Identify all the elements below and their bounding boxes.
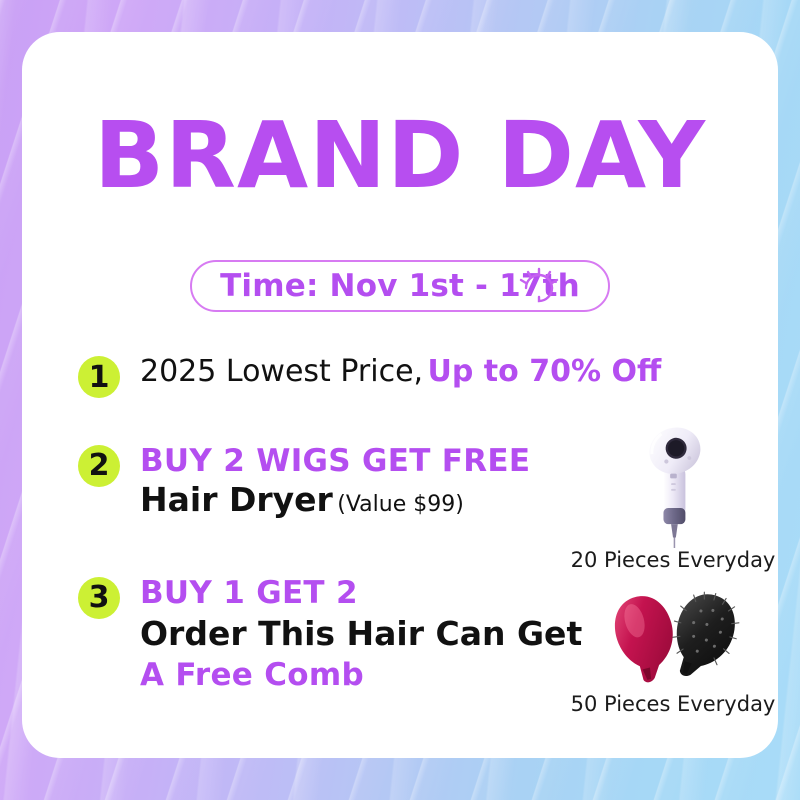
stopwatch-icon xyxy=(514,264,560,310)
product-caption-dryer: 20 Pieces Everyday xyxy=(570,548,776,572)
offer-3-gift: A Free Comb xyxy=(140,657,364,693)
offer-3-description: Order This Hair Can Get xyxy=(140,614,582,653)
product-hair-dryer: 20 Pieces Everyday xyxy=(570,424,776,572)
offer-list: 1 2025 Lowest Price, Up to 70% Off 2 BUY… xyxy=(78,354,548,721)
time-badge: Time: Nov 1st - 17th xyxy=(190,260,610,312)
offer-2-headline: BUY 2 WIGS GET FREE xyxy=(140,443,530,479)
offer-1-text-purple: Up to 70% Off xyxy=(428,354,662,389)
offer-3-line-1: BUY 1 GET 2 xyxy=(140,575,548,613)
offer-3-line-3: A Free Comb xyxy=(140,657,548,695)
hair-comb-icon xyxy=(570,588,776,692)
offer-2-value-note: (Value $99) xyxy=(337,492,464,517)
product-caption-comb: 50 Pieces Everyday xyxy=(570,692,776,716)
white-card: BRAND DAY Time: Nov 1st - 17th xyxy=(22,32,778,758)
offer-number-badge: 2 xyxy=(78,445,120,487)
promo-poster: BRAND DAY Time: Nov 1st - 17th xyxy=(0,0,800,800)
page-title: BRAND DAY xyxy=(22,110,778,202)
offer-number-badge: 3 xyxy=(78,577,120,619)
offer-3-line-2: Order This Hair Can Get xyxy=(140,614,548,654)
offer-item-3: 3 BUY 1 GET 2 Order This Hair Can Get A … xyxy=(78,575,548,695)
offer-1-line-1: 2025 Lowest Price, Up to 70% Off xyxy=(140,354,548,391)
offer-item-2: 2 BUY 2 WIGS GET FREE Hair Dryer (Value … xyxy=(78,443,548,521)
hair-dryer-icon xyxy=(570,424,776,548)
offer-2-product-name: Hair Dryer xyxy=(140,480,333,519)
offer-number-badge: 1 xyxy=(78,356,120,398)
offer-2-line-2: Hair Dryer (Value $99) xyxy=(140,480,548,520)
offer-1-text-black: 2025 Lowest Price, xyxy=(140,354,423,389)
product-hair-comb: 50 Pieces Everyday xyxy=(570,588,776,716)
offer-2-line-1: BUY 2 WIGS GET FREE xyxy=(140,443,548,481)
offer-3-headline: BUY 1 GET 2 xyxy=(140,575,358,611)
offer-item-1: 1 2025 Lowest Price, Up to 70% Off xyxy=(78,354,548,391)
